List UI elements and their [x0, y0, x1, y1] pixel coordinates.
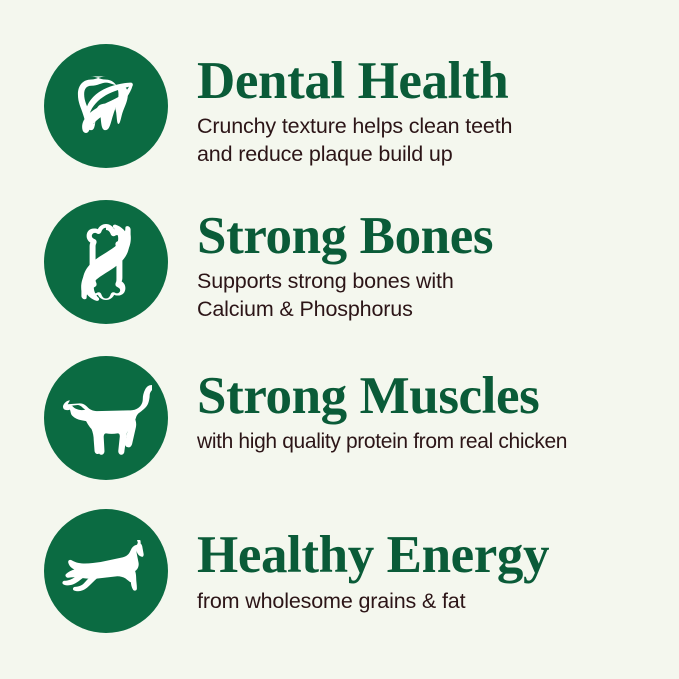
benefit-row: Strong Muscles with high quality protein… — [0, 356, 679, 480]
benefit-row: Dental Health Crunchy texture helps clea… — [0, 44, 679, 169]
benefit-description-line: and reduce plaque build up — [197, 141, 669, 169]
leaping-dog-icon — [57, 540, 155, 602]
benefit-title: Dental Health — [197, 54, 669, 108]
benefit-title: Strong Muscles — [197, 369, 669, 423]
benefit-description-line: Supports strong bones with — [197, 268, 669, 296]
benefits-panel: Dental Health Crunchy texture helps clea… — [0, 0, 679, 679]
benefit-description-line: from wholesome grains & fat — [197, 588, 669, 616]
benefit-description: from wholesome grains & fat — [197, 588, 669, 616]
benefit-row: Healthy Energy from wholesome grains & f… — [0, 509, 679, 633]
bone-swoosh-icon — [69, 221, 143, 303]
benefit-description: Supports strong bones with Calcium & Pho… — [197, 268, 669, 324]
leaping-dog-icon-badge — [44, 509, 168, 633]
bone-swoosh-icon-badge — [44, 200, 168, 324]
benefit-description: Crunchy texture helps clean teeth and re… — [197, 113, 669, 169]
benefit-text-block: Dental Health Crunchy texture helps clea… — [197, 44, 679, 169]
benefit-text-block: Healthy Energy from wholesome grains & f… — [197, 509, 679, 616]
benefit-description: with high quality protein from real chic… — [197, 428, 669, 455]
benefit-description-line: Calcium & Phosphorus — [197, 296, 669, 324]
benefit-description-line: with high quality protein from real chic… — [197, 428, 669, 455]
standing-dog-icon — [60, 381, 152, 455]
tooth-leaf-icon-badge — [44, 44, 168, 168]
benefit-text-block: Strong Muscles with high quality protein… — [197, 356, 679, 455]
benefit-row: Strong Bones Supports strong bones with … — [0, 200, 679, 324]
benefit-description-line: Crunchy texture helps clean teeth — [197, 113, 669, 141]
benefit-title: Strong Bones — [197, 209, 669, 263]
standing-dog-icon-badge — [44, 356, 168, 480]
benefit-title: Healthy Energy — [197, 528, 669, 582]
benefit-text-block: Strong Bones Supports strong bones with … — [197, 200, 679, 324]
tooth-leaf-icon — [67, 67, 145, 145]
